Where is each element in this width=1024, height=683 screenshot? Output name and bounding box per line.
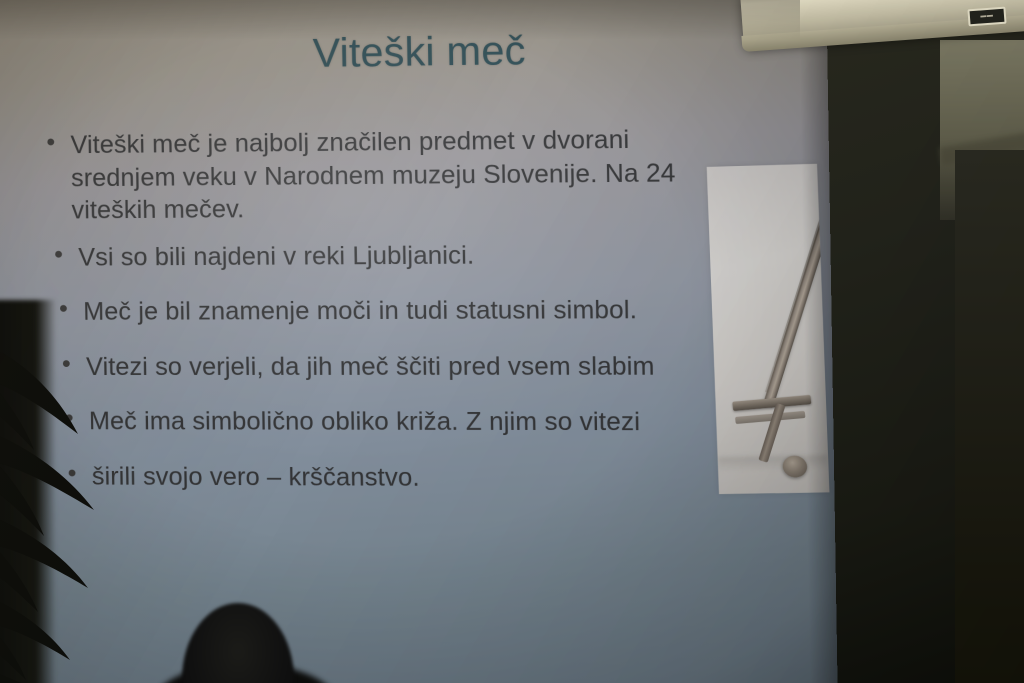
bullet-icon: •: [46, 129, 71, 156]
dark-doorway: [955, 150, 1024, 683]
bullet-text: Meč je bil znamenje moči in tudi statusn…: [83, 294, 637, 329]
bullet-icon: •: [62, 350, 87, 376]
sword-fuller-icon: [765, 164, 829, 393]
bullet-icon: •: [54, 241, 79, 267]
presentation-room-photo: Viteški meč • Viteški meč je najbolj zna…: [0, 0, 1024, 683]
slide-bullet-list: • Viteški meč je najbolj značilen predme…: [46, 123, 718, 518]
slide-content: Viteški meč • Viteški meč je najbolj zna…: [0, 0, 838, 683]
bullet-text: Viteški meč je najbolj značilen predmet …: [70, 123, 690, 227]
roller-badge-label: ▬▬: [967, 7, 1006, 27]
list-item: • Meč ima simbolično obliko križa. Z nji…: [65, 405, 717, 439]
list-item: • Viteški meč je najbolj značilen predme…: [46, 123, 713, 228]
bullet-text: Vitezi so verjeli, da jih meč ščiti pred…: [86, 350, 655, 383]
bullet-icon: •: [67, 460, 92, 486]
bullet-icon: •: [65, 405, 90, 431]
photo-floor-shadow: [718, 455, 829, 471]
bullet-text: Meč ima simbolično obliko križa. Z njim …: [89, 405, 641, 439]
sword-photo: [707, 164, 830, 494]
sword-grip-icon: [758, 403, 785, 463]
list-item: • Vsi so bili najdeni v reki Ljubljanici…: [54, 237, 714, 273]
bullet-text: širili svojo vero – krščanstvo.: [92, 460, 420, 494]
bullet-icon: •: [59, 296, 84, 322]
bullet-text: Vsi so bili najdeni v reki Ljubljanici.: [78, 239, 474, 274]
list-item: • Meč je bil znamenje moči in tudi statu…: [59, 293, 715, 328]
slide-title: Viteški meč: [0, 24, 828, 81]
list-item: • Vitezi so verjeli, da jih meč ščiti pr…: [62, 349, 716, 383]
plant-stem: [0, 300, 56, 683]
projection-screen: Viteški meč • Viteški meč je najbolj zna…: [0, 0, 838, 683]
sword-crossguard-icon: [732, 395, 811, 411]
list-item: • širili svojo vero – krščanstvo.: [67, 460, 717, 495]
